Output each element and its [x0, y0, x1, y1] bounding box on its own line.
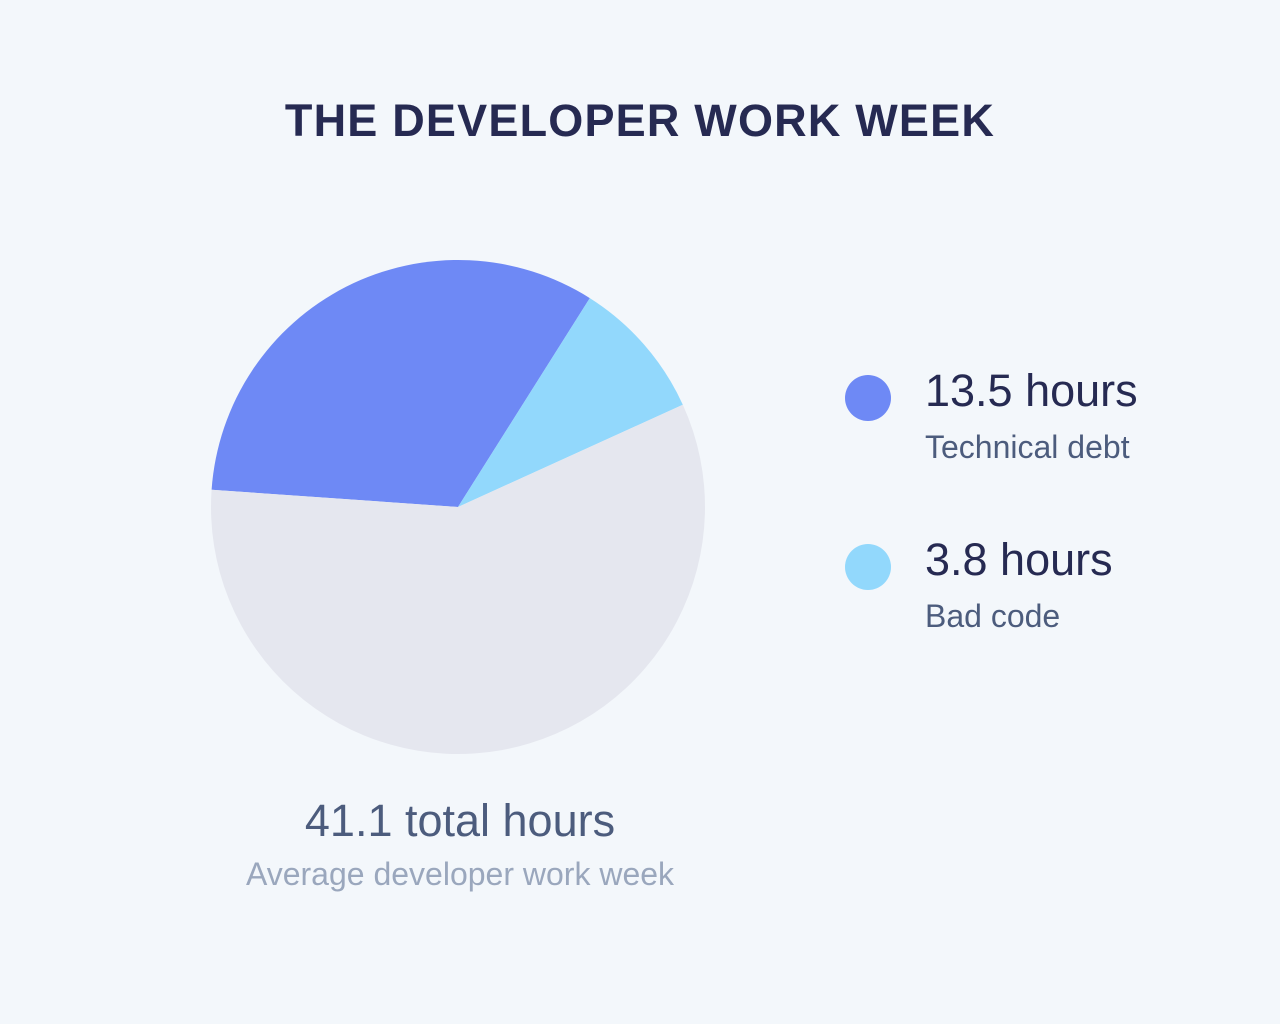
- legend-label-bad-code: Bad code: [925, 599, 1240, 634]
- total-hours-value: 41.1 total hours: [160, 795, 760, 847]
- legend-item-technical-debt[interactable]: 13.5 hours Technical debt: [840, 368, 1240, 478]
- legend-value-bad-code: 3.8 hours: [925, 537, 1240, 582]
- pie-slices: [211, 260, 705, 754]
- total-hours-label: Average developer work week: [160, 855, 760, 893]
- pie-summary: 41.1 total hours Average developer work …: [160, 795, 760, 893]
- legend-value-technical-debt: 13.5 hours: [925, 368, 1240, 413]
- legend-swatch-icon-technical-debt: [845, 375, 891, 421]
- infographic-root: THE DEVELOPER WORK WEEK 41.1 total hours…: [0, 0, 1280, 1024]
- pie-chart: [211, 260, 705, 754]
- legend-item-bad-code[interactable]: 3.8 hours Bad code: [840, 537, 1240, 647]
- page-title: THE DEVELOPER WORK WEEK: [0, 95, 1280, 147]
- legend-text-technical-debt: 13.5 hours Technical debt: [925, 368, 1240, 465]
- legend: 13.5 hours Technical debt 3.8 hours Bad …: [840, 368, 1240, 647]
- legend-label-technical-debt: Technical debt: [925, 430, 1240, 465]
- legend-swatch-icon-bad-code: [845, 544, 891, 590]
- legend-text-bad-code: 3.8 hours Bad code: [925, 537, 1240, 634]
- pie-chart-svg: [211, 260, 705, 754]
